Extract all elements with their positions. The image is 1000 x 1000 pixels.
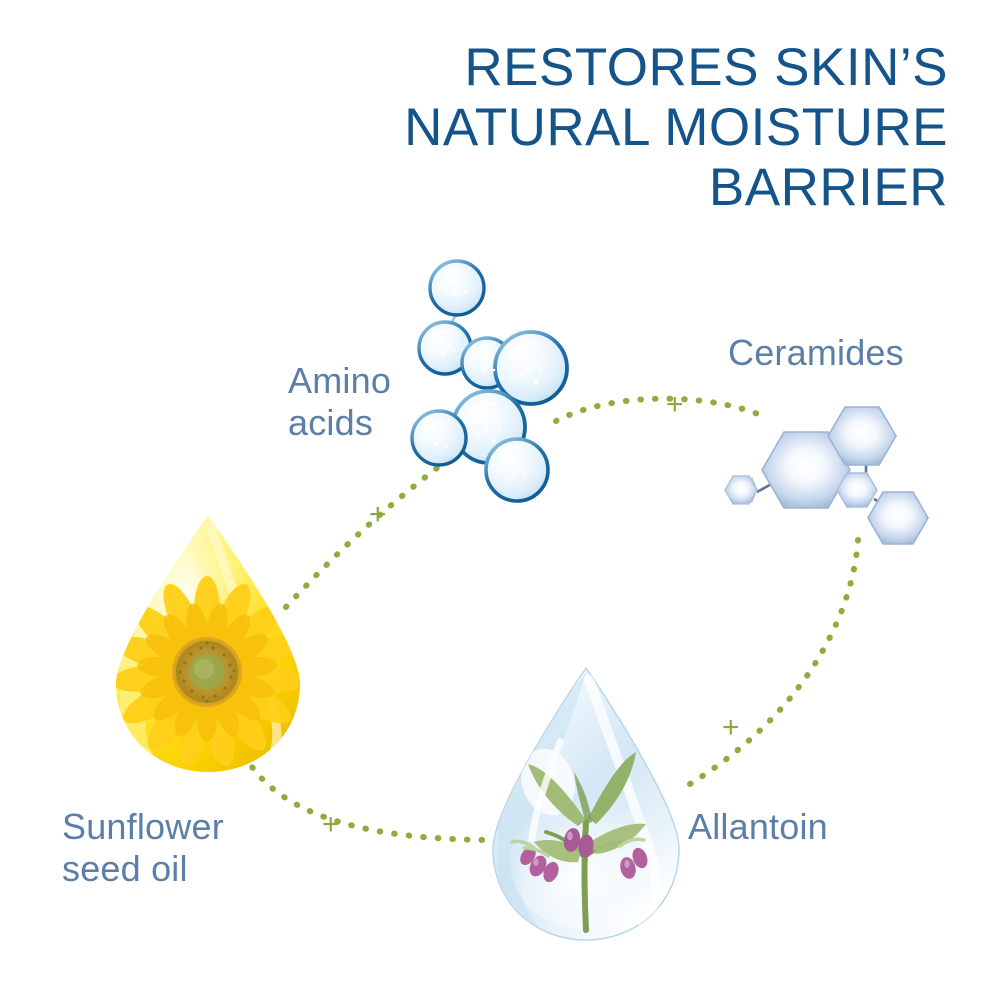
allantoin-water-droplet <box>493 668 679 940</box>
ingredient-graphics-layer <box>0 0 1000 1000</box>
plus-sign-amino-ceramides: + <box>666 390 684 420</box>
plus-sign-ceramides-allantoin: + <box>722 713 740 743</box>
plus-sign-sunflower-allantoin: + <box>322 810 340 840</box>
ceramide-hexagon-molecule <box>725 407 928 544</box>
plus-sign-sunflower-amino: + <box>369 500 387 530</box>
infographic-canvas: + + + + <box>0 0 1000 1000</box>
sunflower-oil-droplet <box>110 512 310 782</box>
amino-acid-bubble-molecule <box>412 261 567 501</box>
